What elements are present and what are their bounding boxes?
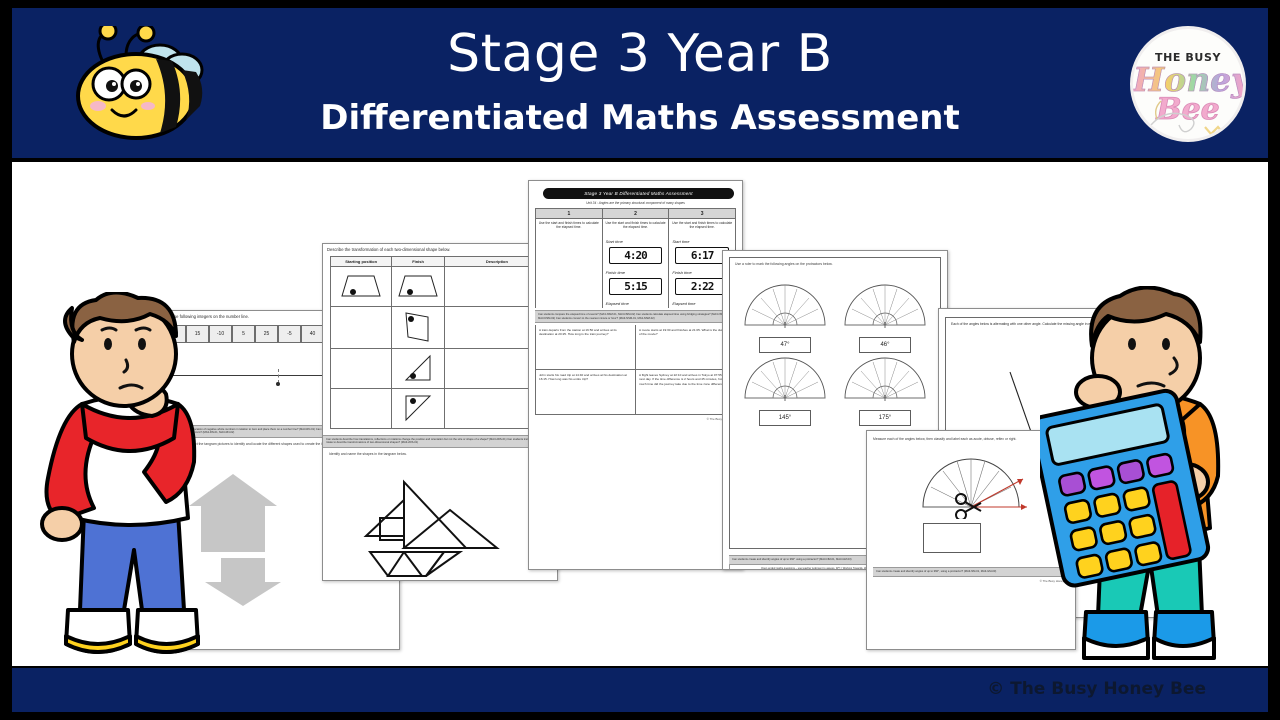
slide-stage: Stage 3 Year B Differentiated Maths Asse… [0,0,1280,720]
right-triangle-icon [400,352,436,384]
transform-instruction: Describe the transformation of each two-… [323,244,557,254]
number-line-zero-marker [276,382,280,386]
angle-label[interactable]: 175° [859,410,911,426]
col-starting-position: Starting position [331,256,392,266]
protractor-icon [842,355,928,401]
protractor-instruction: Use a ruler to mark the following angles… [730,258,940,270]
table-row[interactable] [331,388,550,428]
word-problem[interactable]: A train departs from the station at 16:5… [536,325,635,369]
protractor-icon [742,282,828,328]
question-column[interactable]: 1 Use the start and finish times to calc… [535,209,603,308]
protractor-item[interactable]: 175° [836,355,934,426]
question-instruction: Use the start and finish times to calcul… [669,219,735,235]
col-finish: Finish [392,256,445,266]
question-instruction: Use the start and finish times to calcul… [603,219,669,235]
transform-criteria: Can students describe how translations, … [323,435,557,448]
right-triangle-icon [400,392,436,424]
protractor-icon [911,449,1031,519]
protractor-icon [842,282,928,328]
word-problem-row: A train departs from the station at 16:5… [535,325,736,370]
angle-label[interactable]: 47° [759,337,811,353]
integer-card[interactable]: 40 [301,325,324,343]
finish-time-value: 2:22 [675,278,729,295]
tangram-sailboat-icon [360,470,520,581]
protractor-item[interactable]: 145° [736,355,834,426]
protractor-item[interactable]: 47° [736,282,834,353]
thinking-boy-illustration [38,292,224,670]
protractor-grid: 47° 46° [730,270,940,438]
brand-logo: THE BUSY Honey Bee [1130,26,1246,142]
number-line-zero-tick [278,369,279,383]
word-problem-row: John starts his road trip at 14:40 and a… [535,370,736,415]
start-time-label: Start time [669,235,735,246]
boy-with-calculator-illustration [1040,286,1246,672]
finish-time-value: 5:15 [609,278,663,295]
protractor-item[interactable]: 46° [836,282,934,353]
time-criteria: Can students compare the elapsed time of… [535,310,736,323]
start-time-value: 4:20 [609,247,663,264]
table-row[interactable] [331,266,550,306]
footer-copyright: © The Busy Honey Bee [987,679,1206,699]
angle-label[interactable]: 46° [859,337,911,353]
page-subtitle: Differentiated Maths Assessment [12,98,1268,138]
integer-card[interactable]: -5 [278,325,301,343]
tangram-naming-instruction: Identify and name the shapes in the tang… [323,448,557,460]
answer-box[interactable] [923,523,981,553]
integer-card[interactable]: 25 [255,325,278,343]
integer-card[interactable]: 5 [232,325,255,343]
question-number: 3 [669,209,735,219]
table-header-row: Starting position Finish Description [331,256,550,266]
sheet-copyright: © The Busy Honey Bee [529,415,742,423]
finish-time-label: Finish time [603,266,669,277]
question-number: 2 [603,209,669,219]
logo-swirl-icon [1133,29,1246,142]
shape-cell [392,388,445,428]
angle-label[interactable]: 145° [759,410,811,426]
question-columns: 1 Use the start and finish times to calc… [535,208,736,308]
word-problem[interactable]: A flight leaves Sydney at 22:10 and arri… [635,370,735,414]
shape-cell [331,266,392,306]
worksheet-banner: Stage 3 Year B Differentiated Maths Asse… [543,188,734,199]
start-time-label: Start time [603,235,669,246]
trapezoid-shape-icon [396,272,440,300]
rotated-trapezoid-icon [400,309,436,345]
question-instruction: Use the start and finish times to calcul… [536,219,602,235]
worksheet-transformations[interactable]: Describe the transformation of each two-… [322,243,558,581]
footer-bar: © The Busy Honey Bee [12,668,1268,712]
shape-cell [392,306,445,348]
word-problem[interactable]: John starts his road trip at 14:40 and a… [536,370,635,414]
trapezoid-shape-icon [339,272,383,300]
shape-cell [331,388,392,428]
question-column[interactable]: 2 Use the start and finish times to calc… [603,209,670,308]
table-row[interactable] [331,348,550,388]
shape-cell [331,348,392,388]
shape-cell [331,306,392,348]
shape-cell [392,348,445,388]
worksheet-elapsed-time[interactable]: Stage 3 Year B Differentiated Maths Asse… [528,180,743,570]
start-time-value: 6:17 [675,247,729,264]
unit-subtitle: Unit 34 : Angles are the primary structu… [529,201,742,205]
table-row[interactable] [331,306,550,348]
question-number: 1 [536,209,602,219]
protractor-icon [742,355,828,401]
page-title: Stage 3 Year B [12,24,1268,84]
transformation-table: Starting position Finish Description [330,256,550,429]
header-banner: Stage 3 Year B Differentiated Maths Asse… [12,8,1268,158]
shape-cell [392,266,445,306]
elapsed-time-label: Elapsed time [603,297,669,308]
word-problem[interactable]: A movie starts at 19:30 and finishes at … [635,325,735,369]
